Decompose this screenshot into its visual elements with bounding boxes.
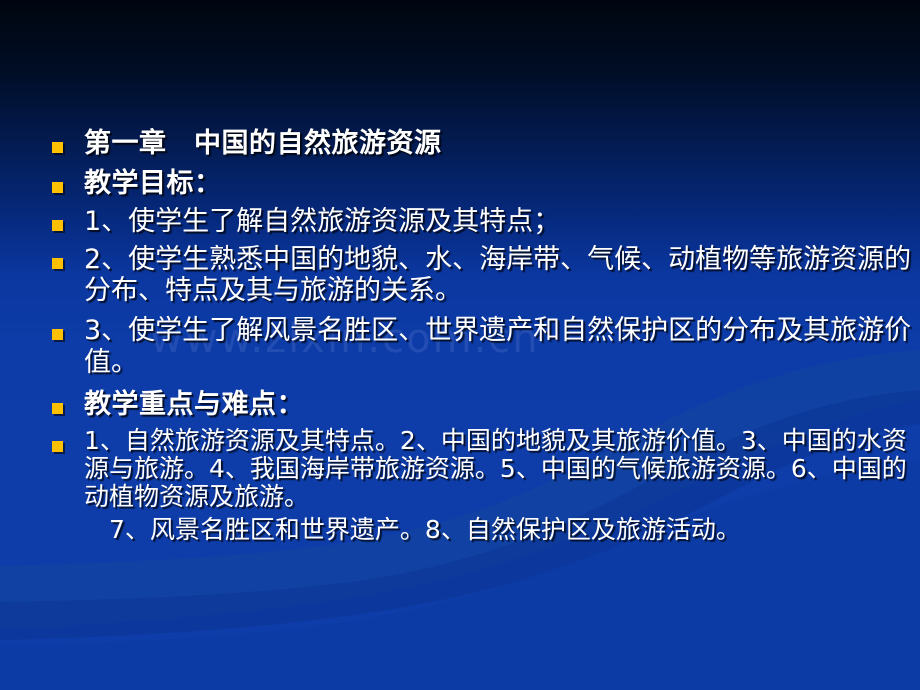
bullet-row-goal-1: 1、使学生了解自然旅游资源及其特点；: [52, 206, 914, 238]
teaching-goals-heading: 教学目标：: [84, 168, 914, 200]
key-points-heading: 教学重点与难点：: [84, 389, 914, 421]
bullet-marker-icon: [52, 182, 63, 193]
goal-item-3: 3、使学生了解风景名胜区、世界遗产和自然保护区的分布及其旅游价值。: [84, 315, 914, 379]
key-points-list: 1、自然旅游资源及其特点。2、中国的地貌及其旅游价值。3、中国的水资源与旅游。4…: [84, 427, 914, 512]
bullet-marker-icon: [52, 403, 63, 414]
bullet-row-goal-2: 2、使学生熟悉中国的地貌、水、海岸带、气候、动植物等旅游资源的分布、特点及其与旅…: [52, 244, 914, 308]
slide-canvas: www.zixin.com.cn 第一章 中国的自然旅游资源 教学目标： 1、使…: [0, 0, 920, 690]
bullet-marker-icon: [52, 142, 63, 153]
bullet-row-key-points-continued: 7、风景名胜区和世界遗产。8、自然保护区及旅游活动。: [52, 516, 914, 544]
bullet-row-title: 第一章 中国的自然旅游资源: [52, 128, 914, 160]
key-points-list-continued: 7、风景名胜区和世界遗产。8、自然保护区及旅游活动。: [84, 516, 914, 544]
bullet-row-key-points-heading: 教学重点与难点：: [52, 389, 914, 421]
bullet-row-goal-3: 3、使学生了解风景名胜区、世界遗产和自然保护区的分布及其旅游价值。: [52, 315, 914, 379]
goal-item-1: 1、使学生了解自然旅游资源及其特点；: [84, 206, 914, 238]
slide-content: 第一章 中国的自然旅游资源 教学目标： 1、使学生了解自然旅游资源及其特点； 2…: [52, 128, 914, 546]
bullet-marker-icon: [52, 441, 63, 452]
bullet-marker-icon: [52, 220, 63, 231]
bullet-row-teaching-goals-heading: 教学目标：: [52, 168, 914, 200]
bullet-marker-icon: [52, 329, 63, 340]
bullet-row-key-points-list: 1、自然旅游资源及其特点。2、中国的地貌及其旅游价值。3、中国的水资源与旅游。4…: [52, 427, 914, 512]
bullet-marker-icon: [52, 258, 63, 269]
goal-item-2: 2、使学生熟悉中国的地貌、水、海岸带、气候、动植物等旅游资源的分布、特点及其与旅…: [84, 244, 914, 308]
slide-title: 第一章 中国的自然旅游资源: [84, 128, 914, 160]
